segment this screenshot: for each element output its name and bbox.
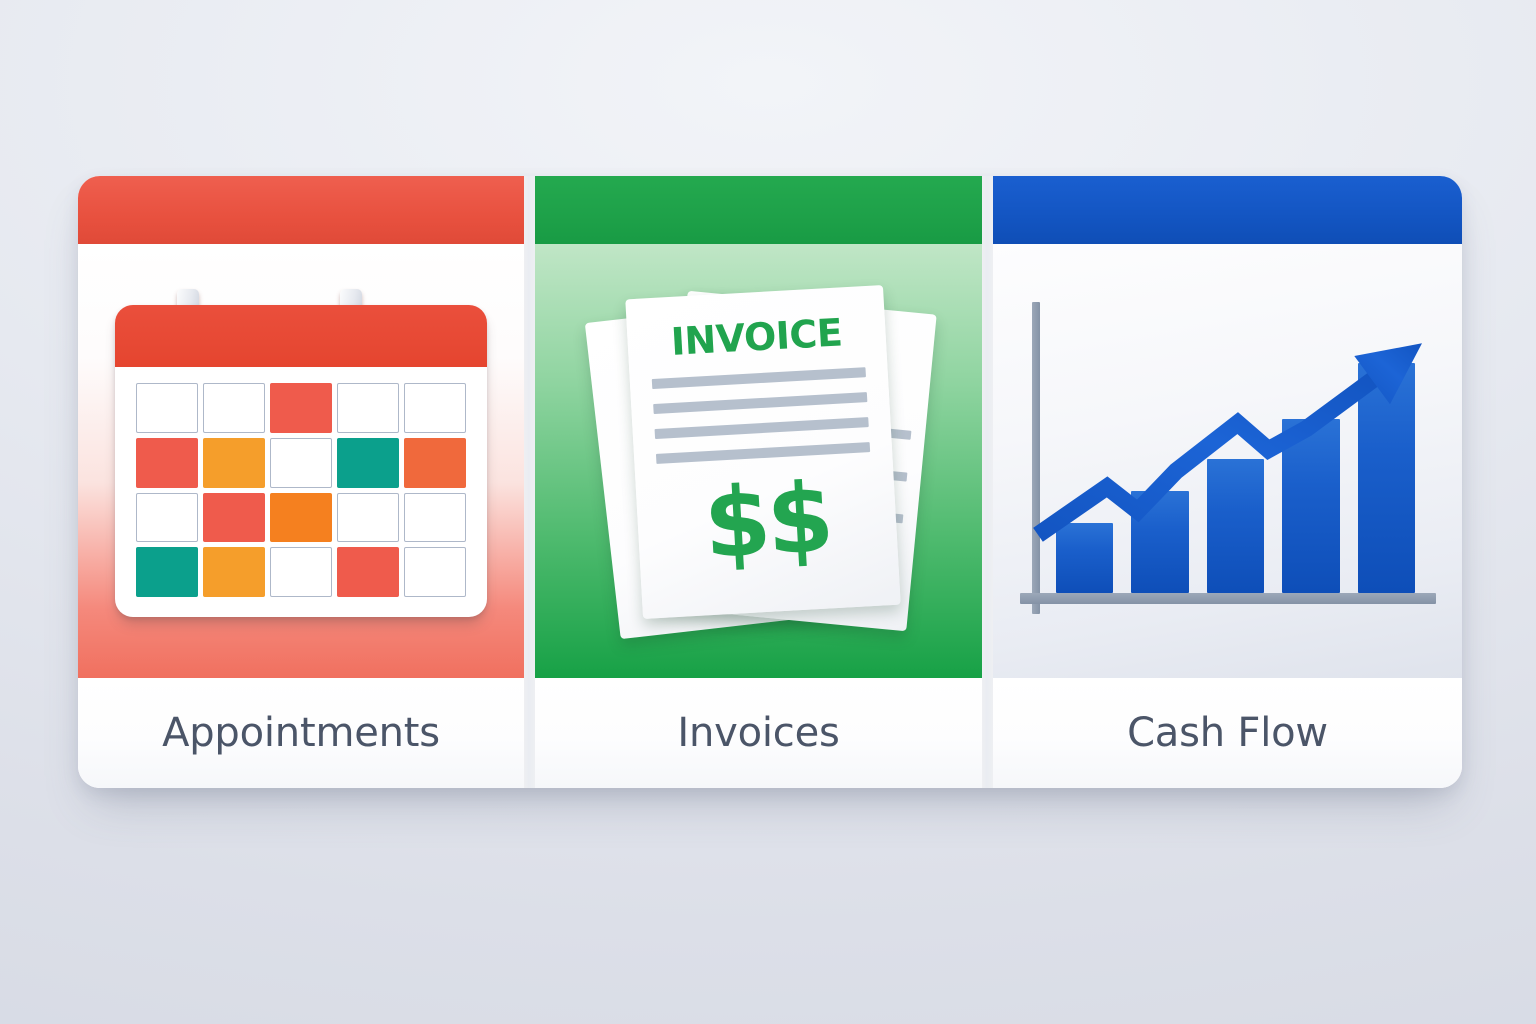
invoice-documents-icon: INVOICE $$ [594, 286, 924, 636]
dollar-sign-icon: $$ [657, 467, 876, 575]
invoice-text-lines [651, 367, 869, 464]
calendar-grid [115, 367, 487, 617]
invoice-line [653, 392, 867, 414]
trend-arrow-icon [1018, 296, 1438, 626]
panel-appointments[interactable]: Appointments [78, 176, 524, 788]
calendar-body [115, 305, 487, 617]
invoice-sheet-front: INVOICE $$ [625, 285, 900, 619]
invoice-graphic: INVOICE $$ [535, 244, 982, 678]
calendar-day-cell [203, 383, 265, 433]
calendar-day-cell [136, 493, 198, 543]
bar-chart-growth-icon [1018, 296, 1438, 626]
calendar-day-cell [337, 547, 399, 597]
calendar-icon [115, 305, 487, 617]
calendar-day-cell [404, 493, 466, 543]
invoice-line [654, 417, 868, 439]
invoice-title: INVOICE [648, 312, 864, 362]
calendar-day-cell [337, 438, 399, 488]
calendar-day-cell [203, 438, 265, 488]
calendar-graphic [78, 244, 524, 678]
calendar-day-cell [203, 493, 265, 543]
calendar-day-cell [136, 438, 198, 488]
calendar-day-cell [136, 383, 198, 433]
calendar-day-cell [270, 547, 332, 597]
accent-bar-cashflow [993, 176, 1462, 244]
label-band-appointments: Appointments [78, 678, 524, 788]
calendar-day-cell [337, 493, 399, 543]
panel-label-cashflow: Cash Flow [1127, 710, 1328, 756]
calendar-header [115, 305, 487, 367]
panel-divider-2 [982, 176, 993, 788]
calendar-day-cell [270, 493, 332, 543]
calendar-day-cell [404, 438, 466, 488]
invoice-line [651, 367, 865, 389]
accent-bar-appointments [78, 176, 524, 244]
label-band-cashflow: Cash Flow [993, 678, 1462, 788]
feature-card: Appointments INVOICE $$ Invoices [78, 176, 1462, 788]
panel-cashflow[interactable]: Cash Flow [993, 176, 1462, 788]
calendar-day-cell [270, 438, 332, 488]
calendar-day-cell [404, 547, 466, 597]
calendar-day-cell [203, 547, 265, 597]
label-band-invoices: Invoices [535, 678, 982, 788]
calendar-day-cell [270, 383, 332, 433]
invoice-line [655, 442, 869, 464]
panel-label-invoices: Invoices [677, 710, 839, 756]
calendar-day-cell [337, 383, 399, 433]
panel-divider-1 [524, 176, 535, 788]
cashflow-graphic [993, 244, 1462, 678]
panel-invoices[interactable]: INVOICE $$ Invoices [535, 176, 982, 788]
calendar-day-cell [404, 383, 466, 433]
accent-bar-invoices [535, 176, 982, 244]
panel-label-appointments: Appointments [162, 710, 440, 756]
calendar-day-cell [136, 547, 198, 597]
